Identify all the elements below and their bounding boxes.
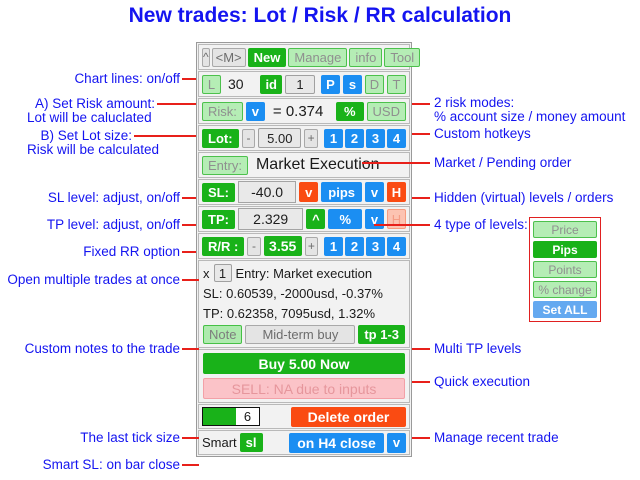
drag-toggle[interactable]: D — [365, 75, 384, 94]
sl-unit-dropdown-icon[interactable]: v — [365, 182, 384, 202]
leader-custom-notes — [182, 348, 199, 350]
annotation-hidden-levels: Hidden (virtual) levels / orders — [434, 190, 613, 205]
annotation-tp-level: TP level: adjust, on/off — [0, 217, 180, 232]
risk-dropdown-icon[interactable]: v — [246, 102, 265, 121]
rr-hotkeys: 1 2 3 4 — [324, 237, 406, 256]
level-type-percent-change[interactable]: % change — [533, 281, 597, 298]
trail-toggle[interactable]: T — [387, 75, 406, 94]
leader-hidden-levels — [412, 197, 430, 199]
risk-row: Risk: v = 0.374 % USD — [198, 98, 410, 124]
tp-arrow-icon[interactable]: ^ — [306, 209, 325, 229]
magic-id-label[interactable]: id — [260, 75, 282, 94]
tp-value-field[interactable]: 2.329 — [238, 208, 303, 230]
level-type-list: Price Pips Points % change Set ALL — [529, 217, 601, 322]
entry-value[interactable]: Market Execution — [256, 156, 380, 174]
leader-level-types — [374, 224, 430, 226]
tp-hidden-toggle[interactable]: H — [387, 209, 406, 229]
rr-decrement-button[interactable]: - — [247, 237, 260, 256]
summary-tp-text: TP: 0.62358, 7095usd, 1.32% — [203, 306, 405, 321]
sl-hidden-toggle[interactable]: H — [387, 182, 406, 202]
annotation-lot-size-sub: Risk will be calculated — [27, 142, 159, 157]
annotation-multi-trades: Open multiple trades at once — [0, 272, 180, 287]
annotation-risk-modes: 2 risk modes: — [434, 95, 514, 110]
annotation-order-type: Market / Pending order — [434, 155, 571, 170]
annotation-level-types: 4 type of levels: — [434, 217, 528, 232]
tick-size-value: 6 — [236, 409, 259, 424]
note-input[interactable]: Mid-term buy — [245, 325, 355, 344]
leader-fixed-rr — [182, 251, 196, 253]
annotation-manage-trade: Manage recent trade — [434, 430, 559, 445]
risk-label[interactable]: Risk: — [202, 102, 243, 121]
annotation-lot-size: B) Set Lot size: — [0, 128, 132, 143]
delete-order-button[interactable]: Delete order — [291, 407, 406, 427]
chart-lines-value: 30 — [228, 76, 244, 92]
level-type-price[interactable]: Price — [533, 221, 597, 238]
risk-mode-percent[interactable]: % — [336, 102, 364, 121]
tab-info[interactable]: info — [349, 48, 382, 67]
tp-row: TP: 2.329 ^ % v H — [198, 206, 410, 232]
entry-row: Entry: Market Execution — [198, 152, 410, 178]
execution-block: Buy 5.00 Now SELL: NA due to inputs — [198, 349, 410, 403]
tp-label[interactable]: TP: — [202, 210, 235, 229]
trade-summary-block: x 1 Entry: Market execution SL: 0.60539,… — [198, 260, 410, 348]
annotation-custom-hotkeys: Custom hotkeys — [434, 126, 531, 141]
multiplier-field[interactable]: 1 — [214, 264, 232, 282]
lot-label[interactable]: Lot: — [202, 129, 239, 148]
leader-risk-amount — [157, 103, 196, 105]
annotation-custom-notes: Custom notes to the trade — [0, 341, 180, 356]
tick-delete-row: 6 Delete order — [198, 404, 410, 429]
lot-hotkey-4[interactable]: 4 — [387, 129, 406, 148]
lot-hotkey-3[interactable]: 3 — [366, 129, 385, 148]
rr-hotkey-4[interactable]: 4 — [387, 237, 406, 256]
tp-unit-dropdown-icon[interactable]: v — [365, 209, 384, 229]
tab-new[interactable]: New — [248, 48, 287, 67]
lot-value-field[interactable]: 5.00 — [258, 128, 301, 148]
annotation-multi-tp: Multi TP levels — [434, 341, 521, 356]
leader-quick-exec — [412, 381, 430, 383]
leader-order-type — [362, 162, 430, 164]
sound-toggle[interactable]: s — [343, 75, 362, 94]
annotation-smart-sl: Smart SL: on bar close — [0, 457, 180, 472]
rr-hotkey-1[interactable]: 1 — [324, 237, 343, 256]
leader-risk-modes — [412, 103, 430, 105]
sl-arrow-icon[interactable]: v — [299, 182, 318, 202]
rr-row: R/R : - 3.55 + 1 2 3 4 — [198, 233, 410, 259]
leader-sl-level — [182, 197, 196, 199]
tp-levels-button[interactable]: tp 1-3 — [358, 325, 405, 344]
sl-unit-pips[interactable]: pips — [321, 182, 362, 202]
rr-increment-button[interactable]: + — [305, 237, 318, 256]
page-title: New trades: Lot / Risk / RR calculation — [0, 4, 640, 28]
multiplier-prefix: x — [203, 266, 210, 281]
panel-tabs-row: ^ <M> New Manage info Tool — [198, 44, 410, 70]
rr-hotkey-2[interactable]: 2 — [345, 237, 364, 256]
sl-value-field[interactable]: -40.0 — [238, 181, 296, 203]
annotation-chart-lines: Chart lines: on/off — [0, 71, 180, 86]
entry-label[interactable]: Entry: — [202, 156, 248, 175]
rr-value-field[interactable]: 3.55 — [264, 236, 302, 256]
annotation-risk-amount-sub: Lot will be caluclated — [27, 110, 152, 125]
lot-decrement-button[interactable]: - — [242, 129, 256, 148]
annotation-last-tick: The last tick size — [0, 430, 180, 445]
annotation-quick-exec: Quick execution — [434, 374, 530, 389]
lot-hotkey-1[interactable]: 1 — [324, 129, 343, 148]
rr-label[interactable]: R/R : — [202, 237, 244, 256]
summary-sl-text: SL: 0.60539, -2000usd, -0.37% — [203, 286, 405, 301]
leader-chart-lines — [182, 78, 196, 80]
sell-button: SELL: NA due to inputs — [203, 378, 405, 399]
leader-lot-size — [134, 135, 196, 137]
tp-unit-percent[interactable]: % — [328, 209, 362, 229]
leader-multi-tp — [412, 348, 430, 350]
annotation-fixed-rr: Fixed RR option — [0, 244, 180, 259]
risk-computed-value: = 0.374 — [273, 103, 323, 120]
smart-sl-toggle[interactable]: sl — [240, 433, 263, 452]
leader-multi-trades — [182, 279, 199, 281]
annotation-risk-modes-sub: % account size / money amount — [434, 109, 625, 124]
level-type-points[interactable]: Points — [533, 261, 597, 278]
annotation-sl-level: SL level: adjust, on/off — [0, 190, 180, 205]
leader-smart-sl — [182, 464, 199, 466]
risk-mode-usd[interactable]: USD — [367, 102, 406, 121]
move-button[interactable]: <M> — [212, 48, 246, 67]
pending-toggle[interactable]: P — [321, 75, 340, 94]
note-row: Note Mid-term buy tp 1-3 — [203, 325, 405, 344]
buy-button[interactable]: Buy 5.00 Now — [203, 353, 405, 374]
tab-manage[interactable]: Manage — [288, 48, 347, 67]
rr-hotkey-3[interactable]: 3 — [366, 237, 385, 256]
leader-last-tick — [182, 437, 199, 439]
summary-entry-line: x 1 Entry: Market execution — [203, 264, 405, 282]
note-label[interactable]: Note — [203, 325, 242, 344]
level-type-pips[interactable]: Pips — [533, 241, 597, 258]
set-all-button[interactable]: Set ALL — [533, 301, 597, 318]
sl-label[interactable]: SL: — [202, 183, 235, 202]
leader-manage-trade — [412, 437, 430, 439]
leader-custom-hotkeys — [412, 133, 430, 135]
lot-hotkeys: 1 2 3 4 — [324, 129, 406, 148]
leader-tp-level — [182, 224, 196, 226]
tab-tool[interactable]: Tool — [384, 48, 420, 67]
chart-lines-toggle[interactable]: L — [202, 75, 221, 94]
trading-panel: ^ <M> New Manage info Tool L 30 id 1 P s… — [196, 42, 412, 457]
lot-hotkey-2[interactable]: 2 — [345, 129, 364, 148]
annotation-risk-amount: A) Set Risk amount: — [0, 96, 155, 111]
lot-row: Lot: - 5.00 + 1 2 3 4 — [198, 125, 410, 151]
sl-row: SL: -40.0 v pips v H — [198, 179, 410, 205]
smart-sl-row: Smart sl on H4 close v — [198, 430, 410, 455]
tick-size-indicator: 6 — [202, 407, 260, 426]
chart-lines-row: L 30 id 1 P s D T — [198, 71, 410, 97]
smart-close-dropdown-icon[interactable]: v — [387, 433, 406, 453]
summary-entry-text: Entry: Market execution — [236, 266, 373, 281]
collapse-icon[interactable]: ^ — [202, 48, 210, 67]
tick-size-bar — [203, 408, 236, 425]
smart-label: Smart — [202, 435, 237, 450]
smart-close-select[interactable]: on H4 close — [289, 433, 384, 453]
magic-id-field[interactable]: 1 — [285, 75, 315, 94]
lot-increment-button[interactable]: + — [304, 129, 318, 148]
